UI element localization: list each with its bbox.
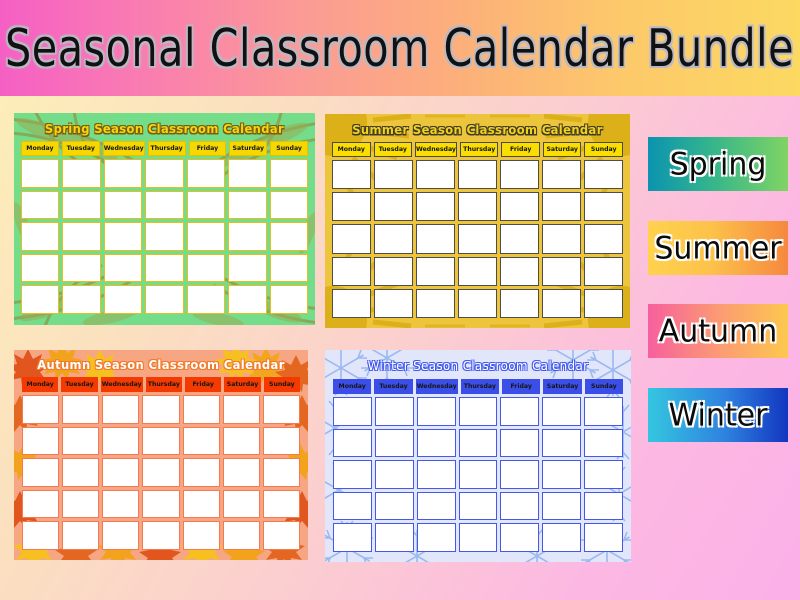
calendar-week-row <box>22 458 300 487</box>
calendar-day-cell[interactable] <box>263 458 300 487</box>
day-header-tuesday: Tuesday <box>61 377 97 392</box>
calendar-day-cell[interactable] <box>62 254 100 283</box>
calendar-day-cell[interactable] <box>223 458 260 487</box>
calendar-day-cell[interactable] <box>458 257 497 286</box>
day-header-friday: Friday <box>502 379 540 394</box>
calendar-day-cell[interactable] <box>183 490 220 519</box>
calendar-day-cell[interactable] <box>332 257 371 286</box>
calendar-day-cell[interactable] <box>500 160 539 189</box>
calendar-week-row <box>332 160 623 189</box>
day-header-friday: Friday <box>189 141 227 156</box>
calendar-day-cell[interactable] <box>542 397 581 426</box>
calendar-week-row <box>333 397 623 426</box>
calendar-day-cell[interactable] <box>145 191 183 220</box>
calendar-day-cell[interactable] <box>459 460 498 489</box>
calendar-week-row <box>332 289 623 318</box>
season-chip-label: Winter <box>669 397 768 434</box>
day-header-thursday: Thursday <box>148 141 186 156</box>
calendar-day-cell[interactable] <box>263 490 300 519</box>
calendar-day-cell[interactable] <box>416 192 455 221</box>
calendar-day-cell[interactable] <box>374 160 413 189</box>
calendar-day-cell[interactable] <box>375 523 414 552</box>
calendar-day-cell[interactable] <box>542 460 581 489</box>
calendar-day-cell[interactable] <box>458 160 497 189</box>
calendar-day-cell[interactable] <box>332 224 371 253</box>
calendar-grid-spring: Monday Tuesday Wednesday Thursday Friday… <box>21 141 308 317</box>
calendar-day-cell[interactable] <box>228 285 266 314</box>
season-chip-autumn[interactable]: Autumn <box>648 304 788 358</box>
calendar-day-cell[interactable] <box>374 257 413 286</box>
page-title: Seasonal Classroom Calendar Bundle <box>5 18 794 78</box>
calendar-title-spring: Spring Season Classroom Calendar <box>21 122 308 137</box>
calendar-day-cell[interactable] <box>228 159 266 188</box>
calendar-week-row <box>21 222 308 251</box>
calendar-day-cell[interactable] <box>187 191 225 220</box>
day-header-friday: Friday <box>185 377 221 392</box>
calendar-day-cell[interactable] <box>584 429 623 458</box>
calendar-panel-autumn[interactable]: Autumn Season Classroom Calendar Monday … <box>14 350 308 560</box>
calendar-day-cell[interactable] <box>21 222 59 251</box>
calendar-day-cell[interactable] <box>542 523 581 552</box>
day-header-sunday: Sunday <box>270 141 308 156</box>
calendar-day-cell[interactable] <box>62 222 100 251</box>
calendar-day-cell[interactable] <box>228 254 266 283</box>
calendar-title-autumn: Autumn Season Classroom Calendar <box>22 358 300 373</box>
calendar-day-cell[interactable] <box>375 460 414 489</box>
calendar-day-cell[interactable] <box>416 289 455 318</box>
calendar-day-cell[interactable] <box>104 254 142 283</box>
day-header-monday: Monday <box>333 379 371 394</box>
calendar-day-cell[interactable] <box>542 429 581 458</box>
calendar-day-cell[interactable] <box>332 289 371 318</box>
calendar-day-cell[interactable] <box>333 492 372 521</box>
calendar-day-cell[interactable] <box>187 285 225 314</box>
calendar-day-cell[interactable] <box>142 521 179 550</box>
calendar-day-cell[interactable] <box>104 159 142 188</box>
calendar-day-cell[interactable] <box>263 395 300 424</box>
calendar-day-cell[interactable] <box>375 429 414 458</box>
day-header-monday: Monday <box>332 142 371 157</box>
calendar-day-cell[interactable] <box>223 521 260 550</box>
calendar-day-cell[interactable] <box>542 492 581 521</box>
calendar-day-cell[interactable] <box>62 490 99 519</box>
season-chip-spring[interactable]: Spring <box>648 137 788 191</box>
calendar-day-cell[interactable] <box>22 427 59 456</box>
calendar-day-cell[interactable] <box>183 458 220 487</box>
calendar-day-cell[interactable] <box>459 492 498 521</box>
calendar-day-cell[interactable] <box>584 192 623 221</box>
calendar-day-cell[interactable] <box>459 429 498 458</box>
day-header-thursday: Thursday <box>461 379 499 394</box>
calendar-day-cell[interactable] <box>459 523 498 552</box>
day-header-saturday: Saturday <box>229 141 267 156</box>
calendar-day-cell[interactable] <box>500 523 539 552</box>
calendar-day-cell[interactable] <box>145 222 183 251</box>
calendar-day-cell[interactable] <box>500 289 539 318</box>
calendar-day-cell[interactable] <box>102 490 139 519</box>
calendar-day-cell[interactable] <box>542 289 581 318</box>
calendar-day-cell[interactable] <box>458 224 497 253</box>
calendar-week-row <box>333 492 623 521</box>
calendar-day-cell[interactable] <box>102 458 139 487</box>
calendar-grid-summer: Monday Tuesday Wednesday Thursday Friday… <box>332 142 623 321</box>
calendar-day-cell[interactable] <box>417 429 456 458</box>
calendar-panel-winter[interactable]: Winter Season Classroom Calendar Monday … <box>325 350 631 562</box>
calendar-day-cell[interactable] <box>375 492 414 521</box>
day-header-row: Monday Tuesday Wednesday Thursday Friday… <box>333 379 623 394</box>
calendar-day-cell[interactable] <box>333 523 372 552</box>
calendar-week-row <box>21 159 308 188</box>
calendar-day-cell[interactable] <box>416 224 455 253</box>
calendar-day-cell[interactable] <box>417 397 456 426</box>
calendar-week-row <box>332 192 623 221</box>
calendar-grid-autumn: Monday Tuesday Wednesday Thursday Friday… <box>22 377 300 553</box>
calendar-day-cell[interactable] <box>500 460 539 489</box>
calendar-day-cell[interactable] <box>542 160 581 189</box>
day-header-thursday: Thursday <box>460 142 499 157</box>
calendar-day-cell[interactable] <box>417 492 456 521</box>
calendar-day-cell[interactable] <box>375 397 414 426</box>
day-header-wednesday: Wednesday <box>103 141 145 156</box>
calendar-day-cell[interactable] <box>416 257 455 286</box>
calendar-day-cell[interactable] <box>332 192 371 221</box>
calendar-day-cell[interactable] <box>584 523 623 552</box>
calendar-day-cell[interactable] <box>542 192 581 221</box>
calendar-day-cell[interactable] <box>500 492 539 521</box>
calendar-day-cell[interactable] <box>500 192 539 221</box>
day-header-saturday: Saturday <box>543 142 582 157</box>
calendar-day-cell[interactable] <box>104 191 142 220</box>
calendar-day-cell[interactable] <box>102 395 139 424</box>
day-header-monday: Monday <box>21 141 59 156</box>
calendar-day-cell[interactable] <box>584 397 623 426</box>
day-header-row: Monday Tuesday Wednesday Thursday Friday… <box>332 142 623 157</box>
calendar-day-cell[interactable] <box>22 395 59 424</box>
day-header-saturday: Saturday <box>224 377 260 392</box>
calendar-day-cell[interactable] <box>223 395 260 424</box>
calendar-day-cell[interactable] <box>417 523 456 552</box>
calendar-day-cell[interactable] <box>270 191 308 220</box>
calendar-week-row <box>333 429 623 458</box>
calendar-week-row <box>21 254 308 283</box>
calendar-panel-summer[interactable]: Summer Season Classroom Calendar Monday … <box>325 114 630 328</box>
calendar-day-cell[interactable] <box>584 492 623 521</box>
season-chip-label: Autumn <box>659 313 778 350</box>
calendar-day-cell[interactable] <box>333 460 372 489</box>
calendar-day-cell[interactable] <box>21 159 59 188</box>
calendar-week-row <box>21 191 308 220</box>
calendar-day-cell[interactable] <box>228 191 266 220</box>
calendar-day-cell[interactable] <box>183 427 220 456</box>
calendar-day-cell[interactable] <box>458 289 497 318</box>
calendar-day-cell[interactable] <box>584 160 623 189</box>
calendar-day-cell[interactable] <box>104 222 142 251</box>
calendar-title-winter: Winter Season Classroom Calendar <box>333 359 623 374</box>
calendar-week-row <box>22 490 300 519</box>
calendar-day-cell[interactable] <box>21 191 59 220</box>
calendar-day-cell[interactable] <box>187 254 225 283</box>
calendar-day-cell[interactable] <box>417 460 456 489</box>
calendar-day-cell[interactable] <box>584 460 623 489</box>
calendar-title-summer: Summer Season Classroom Calendar <box>332 123 623 138</box>
calendar-day-cell[interactable] <box>458 192 497 221</box>
calendar-day-cell[interactable] <box>104 285 142 314</box>
day-header-row: Monday Tuesday Wednesday Thursday Friday… <box>21 141 308 156</box>
calendar-day-cell[interactable] <box>183 521 220 550</box>
day-header-monday: Monday <box>22 377 58 392</box>
day-header-sunday: Sunday <box>584 142 623 157</box>
header-banner: Seasonal Classroom Calendar Bundle <box>0 0 800 96</box>
calendar-day-cell[interactable] <box>142 490 179 519</box>
calendar-week-row <box>333 460 623 489</box>
calendar-day-cell[interactable] <box>62 191 100 220</box>
calendar-day-cell[interactable] <box>542 257 581 286</box>
calendar-day-cell[interactable] <box>270 254 308 283</box>
day-header-row: Monday Tuesday Wednesday Thursday Friday… <box>22 377 300 392</box>
calendar-day-cell[interactable] <box>270 285 308 314</box>
calendar-week-row <box>22 427 300 456</box>
calendar-day-cell[interactable] <box>183 395 220 424</box>
calendar-week-row <box>332 224 623 253</box>
calendar-day-cell[interactable] <box>500 397 539 426</box>
calendar-day-cell[interactable] <box>62 285 100 314</box>
calendar-day-cell[interactable] <box>333 397 372 426</box>
calendar-day-cell[interactable] <box>374 289 413 318</box>
calendar-day-cell[interactable] <box>102 427 139 456</box>
calendar-week-row <box>22 395 300 424</box>
calendar-day-cell[interactable] <box>263 427 300 456</box>
calendar-day-cell[interactable] <box>500 224 539 253</box>
calendar-day-cell[interactable] <box>584 224 623 253</box>
calendar-day-cell[interactable] <box>21 285 59 314</box>
calendar-day-cell[interactable] <box>374 192 413 221</box>
calendar-day-cell[interactable] <box>270 222 308 251</box>
season-chip-label: Spring <box>670 146 767 183</box>
calendar-week-row <box>22 521 300 550</box>
calendar-day-cell[interactable] <box>145 254 183 283</box>
day-header-tuesday: Tuesday <box>374 142 413 157</box>
calendar-day-cell[interactable] <box>459 397 498 426</box>
calendar-day-cell[interactable] <box>263 521 300 550</box>
season-chip-winter[interactable]: Winter <box>648 388 788 442</box>
calendar-week-row <box>333 523 623 552</box>
season-chip-summer[interactable]: Summer <box>648 221 788 275</box>
calendar-day-cell[interactable] <box>223 427 260 456</box>
calendar-day-cell[interactable] <box>187 222 225 251</box>
calendar-day-cell[interactable] <box>500 429 539 458</box>
calendar-week-row <box>21 285 308 314</box>
calendar-day-cell[interactable] <box>500 257 539 286</box>
calendar-day-cell[interactable] <box>187 159 225 188</box>
day-header-tuesday: Tuesday <box>62 141 100 156</box>
calendar-day-cell[interactable] <box>142 427 179 456</box>
calendar-week-row <box>332 257 623 286</box>
calendar-day-cell[interactable] <box>62 159 100 188</box>
calendar-day-cell[interactable] <box>102 521 139 550</box>
calendar-day-cell[interactable] <box>22 490 59 519</box>
calendar-day-cell[interactable] <box>333 429 372 458</box>
calendar-panel-spring[interactable]: Spring Season Classroom Calendar Monday … <box>14 113 315 325</box>
day-header-friday: Friday <box>501 142 540 157</box>
calendar-day-cell[interactable] <box>270 159 308 188</box>
calendar-day-cell[interactable] <box>332 160 371 189</box>
day-header-sunday: Sunday <box>264 377 300 392</box>
calendar-day-cell[interactable] <box>145 159 183 188</box>
calendar-day-cell[interactable] <box>21 254 59 283</box>
day-header-saturday: Saturday <box>543 379 581 394</box>
calendar-day-cell[interactable] <box>145 285 183 314</box>
calendar-day-cell[interactable] <box>223 490 260 519</box>
calendar-day-cell[interactable] <box>22 521 59 550</box>
day-header-wednesday: Wednesday <box>101 377 143 392</box>
calendar-day-cell[interactable] <box>62 427 99 456</box>
calendar-day-cell[interactable] <box>142 395 179 424</box>
calendar-day-cell[interactable] <box>542 224 581 253</box>
calendar-day-cell[interactable] <box>142 458 179 487</box>
calendar-day-cell[interactable] <box>374 224 413 253</box>
calendar-day-cell[interactable] <box>62 521 99 550</box>
calendar-day-cell[interactable] <box>416 160 455 189</box>
day-header-thursday: Thursday <box>146 377 182 392</box>
calendar-day-cell[interactable] <box>22 458 59 487</box>
day-header-sunday: Sunday <box>585 379 623 394</box>
day-header-wednesday: Wednesday <box>415 142 457 157</box>
calendar-day-cell[interactable] <box>584 257 623 286</box>
calendar-day-cell[interactable] <box>228 222 266 251</box>
day-header-tuesday: Tuesday <box>374 379 412 394</box>
calendar-day-cell[interactable] <box>62 395 99 424</box>
calendar-day-cell[interactable] <box>584 289 623 318</box>
day-header-wednesday: Wednesday <box>416 379 458 394</box>
season-chip-label: Summer <box>654 230 781 267</box>
calendar-day-cell[interactable] <box>62 458 99 487</box>
calendar-grid-winter: Monday Tuesday Wednesday Thursday Friday… <box>333 379 623 555</box>
